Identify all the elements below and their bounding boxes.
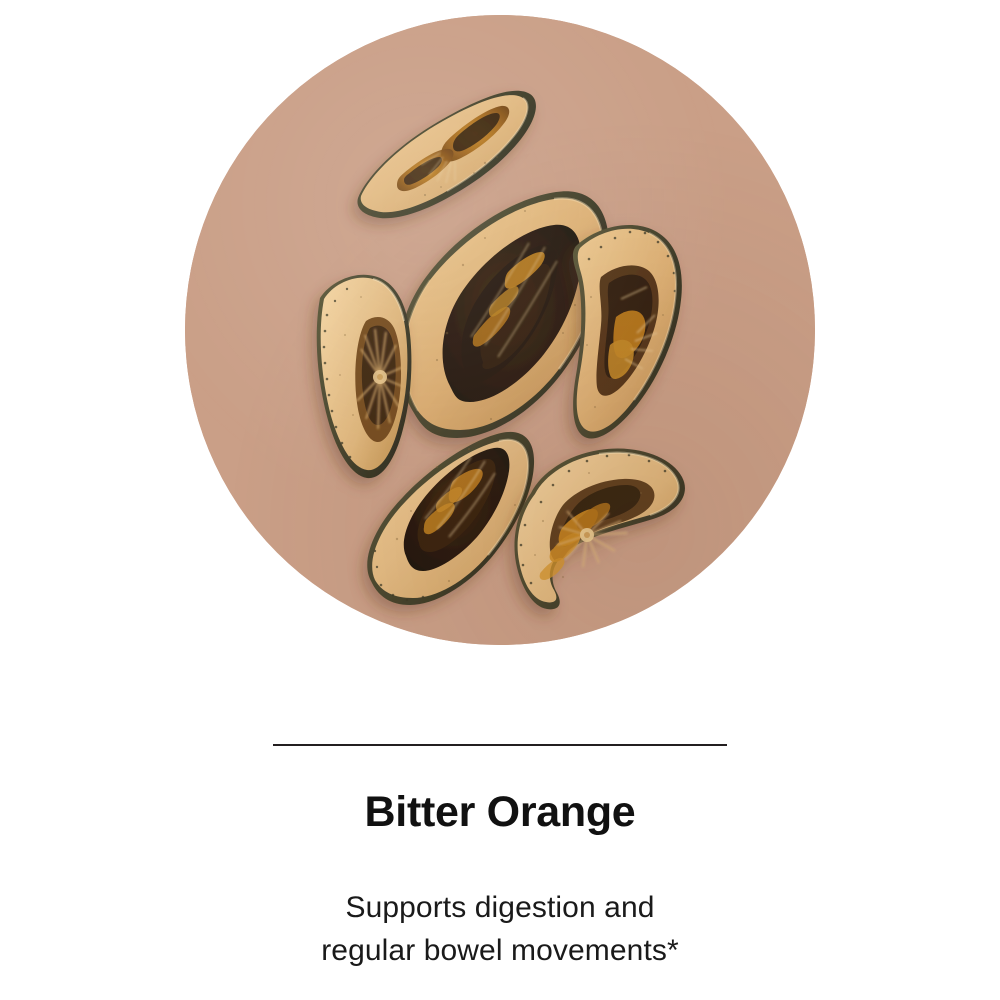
benefit-line-2: regular bowel movements* [0, 930, 1000, 973]
benefit-line-1: Supports digestion and [0, 887, 1000, 930]
page-title: Bitter Orange [0, 790, 1000, 835]
section-divider [273, 744, 727, 746]
dried-bitter-orange-slices-illustration [185, 15, 815, 645]
ingredient-card: Bitter Orange Supports digestion and reg… [0, 0, 1000, 1000]
ingredient-benefit-text: Supports digestion and regular bowel mov… [0, 887, 1000, 972]
ingredient-photo-circle [185, 15, 815, 645]
ingredient-text-block: Bitter Orange Supports digestion and reg… [0, 790, 1000, 972]
